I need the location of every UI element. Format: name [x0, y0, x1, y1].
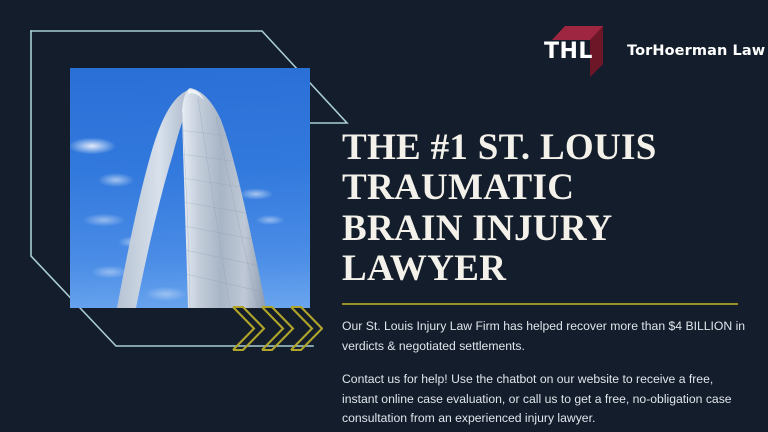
contact-paragraph: Contact us for help! Use the chatbot on …: [342, 370, 748, 429]
logo-wordmark: TorHoerman Law: [627, 43, 765, 59]
arch-structure: [70, 68, 310, 308]
content-column: THE #1 ST. LOUIS TRAUMATIC BRAIN INJURY …: [342, 128, 748, 432]
headline-line-1: THE #1 ST. LOUIS: [342, 127, 657, 168]
gateway-arch-photo: [70, 68, 310, 308]
logo-monogram: THL: [544, 41, 593, 63]
page-title: THE #1 ST. LOUIS TRAUMATIC BRAIN INJURY …: [342, 128, 748, 289]
triple-chevron-right-icon: [231, 305, 323, 353]
headline-line-4: LAWYER: [342, 248, 506, 289]
gold-divider: [342, 303, 738, 305]
brand-logo[interactable]: THL TorHoerman Law: [540, 24, 765, 78]
promotional-banner: THL TorHoerman Law THE #1 ST. LOUIS TRAU…: [0, 0, 768, 432]
thl-cube-logo-icon: THL: [540, 24, 616, 78]
headline-line-2: TRAUMATIC: [342, 167, 574, 208]
headline-line-3: BRAIN INJURY: [342, 208, 613, 249]
results-paragraph: Our St. Louis Injury Law Firm has helped…: [342, 317, 748, 356]
